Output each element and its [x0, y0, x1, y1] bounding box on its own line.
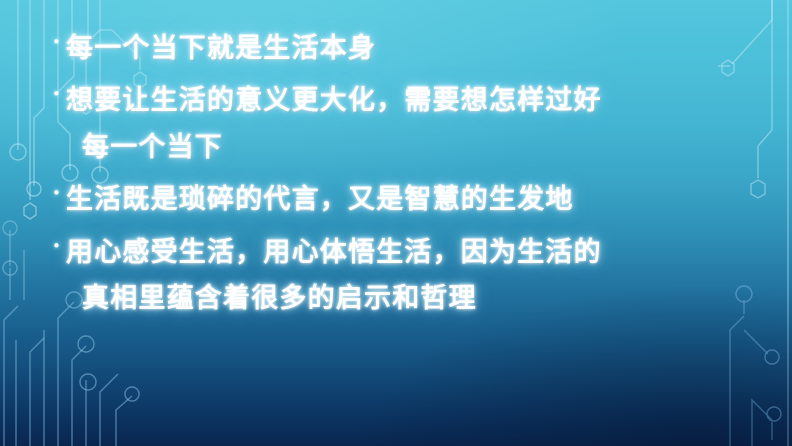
- list-item[interactable]: • 每一个当下就是生活本身: [52, 26, 752, 72]
- bullet-text: 想要让生活的意义更大化，需要想怎样过好 每一个当下: [66, 78, 752, 171]
- bullet-line-wrapped: 真相里蕴含着很多的启示和哲理: [66, 276, 752, 322]
- presentation-slide: • 每一个当下就是生活本身 • 想要让生活的意义更大化，需要想怎样过好 每一个当…: [0, 0, 792, 446]
- bullet-icon: •: [52, 35, 66, 50]
- list-item[interactable]: • 想要让生活的意义更大化，需要想怎样过好 每一个当下: [52, 78, 752, 171]
- list-item[interactable]: • 用心感受生活，用心体悟生活，因为生活的 真相里蕴含着很多的启示和哲理: [52, 230, 752, 323]
- bullet-line: 用心感受生活，用心体悟生活，因为生活的: [66, 237, 602, 268]
- bullet-text: 生活既是琐碎的代言，又是智慧的生发地: [66, 177, 752, 223]
- slide-body-text: • 每一个当下就是生活本身 • 想要让生活的意义更大化，需要想怎样过好 每一个当…: [52, 26, 752, 329]
- bullet-icon: •: [52, 186, 66, 201]
- list-item[interactable]: • 生活既是琐碎的代言，又是智慧的生发地: [52, 177, 752, 223]
- bullet-text: 用心感受生活，用心体悟生活，因为生活的 真相里蕴含着很多的启示和哲理: [66, 230, 752, 323]
- bullet-line-wrapped: 每一个当下: [66, 125, 752, 171]
- bullet-icon: •: [52, 87, 66, 102]
- bullet-text: 每一个当下就是生活本身: [66, 26, 752, 72]
- bullet-icon: •: [52, 239, 66, 254]
- bullet-line: 每一个当下就是生活本身: [66, 33, 376, 64]
- bullet-line: 想要让生活的意义更大化，需要想怎样过好: [66, 85, 602, 116]
- bullet-line: 生活既是琐碎的代言，又是智慧的生发地: [66, 184, 574, 215]
